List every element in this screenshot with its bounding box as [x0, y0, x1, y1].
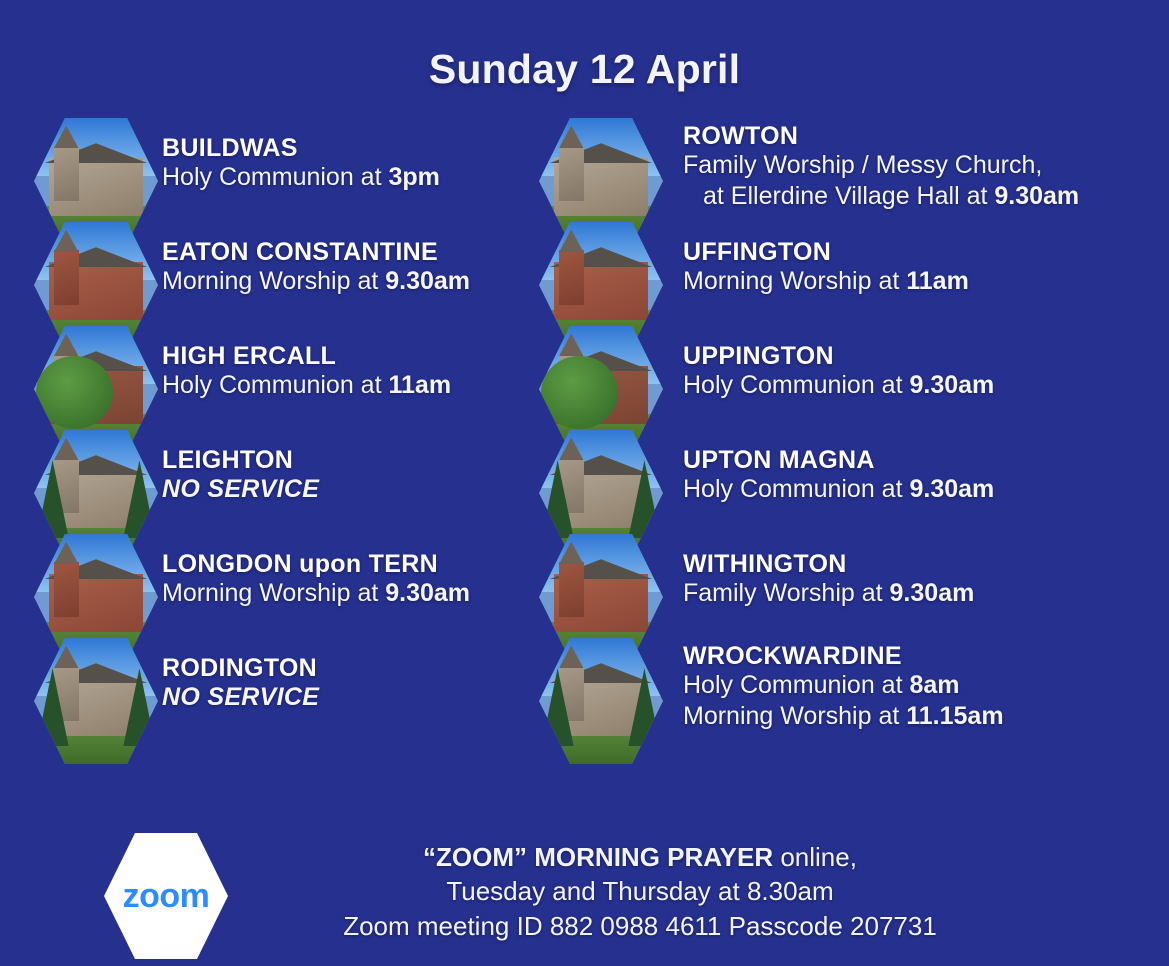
service-time: 9.30am — [909, 371, 994, 399]
parish-name: ROWTON — [683, 122, 1163, 150]
service-entry: EATON CONSTANTINEMorning Worship at 9.30… — [34, 222, 534, 326]
service-description: Holy Communion at — [162, 163, 388, 191]
photo-layer-tower — [54, 146, 79, 201]
service-description: Family Worship / Messy Church, — [683, 151, 1042, 179]
service-description: Holy Communion at — [162, 371, 388, 399]
service-time: 11.15am — [906, 702, 1003, 730]
parish-name: LEIGHTON — [162, 446, 562, 474]
service-entry: LONGDON upon TERNMorning Worship at 9.30… — [34, 534, 534, 638]
service-entry-text: EATON CONSTANTINEMorning Worship at 9.30… — [162, 238, 562, 297]
footer-line-2: Tuesday and Thursday at 8.30am — [280, 874, 1000, 908]
no-service-label: NO SERVICE — [162, 474, 562, 505]
service-entry-text: ROWTONFamily Worship / Messy Church,at E… — [683, 122, 1163, 211]
service-description: Morning Worship at — [683, 702, 906, 730]
photo-layer-tower — [559, 146, 584, 201]
service-line: Morning Worship at 9.30am — [162, 266, 562, 297]
parish-name: UPPINGTON — [683, 342, 1163, 370]
church-photo-hexagon — [34, 638, 158, 764]
zoom-logo-text: zoom — [123, 879, 210, 913]
service-column-left: BUILDWASHoly Communion at 3pmEATON CONST… — [34, 118, 534, 742]
parish-name: WITHINGTON — [683, 550, 1163, 578]
service-time: 9.30am — [890, 579, 975, 607]
service-time: 9.30am — [909, 475, 994, 503]
service-entry-text: LEIGHTONNO SERVICE — [162, 446, 562, 505]
service-description: Holy Communion at — [683, 475, 909, 503]
service-time: 11am — [906, 267, 969, 295]
service-entry-text: WITHINGTONFamily Worship at 9.30am — [683, 550, 1163, 609]
service-entry-text: HIGH ERCALLHoly Communion at 11am — [162, 342, 562, 401]
photo-layer-tower — [559, 562, 584, 617]
service-description: Holy Communion at — [683, 671, 909, 699]
service-description: Morning Worship at — [162, 579, 385, 607]
service-line: Morning Worship at 11.15am — [683, 701, 1163, 732]
service-line: at Ellerdine Village Hall at 9.30am — [683, 181, 1163, 212]
service-description: Family Worship at — [683, 579, 890, 607]
service-time: 8am — [909, 671, 959, 699]
photo-layer-tower — [54, 250, 79, 305]
service-entry: HIGH ERCALLHoly Communion at 11am — [34, 326, 534, 430]
parish-name: EATON CONSTANTINE — [162, 238, 562, 266]
service-description: at Ellerdine Village Hall at — [703, 182, 994, 210]
service-line: Holy Communion at 9.30am — [683, 370, 1163, 401]
photo-layer-tower — [559, 250, 584, 305]
service-description: Holy Communion at — [683, 371, 909, 399]
service-entry: UPTON MAGNAHoly Communion at 9.30am — [539, 430, 1159, 534]
service-line: Holy Communion at 3pm — [162, 162, 562, 193]
service-entry: WITHINGTONFamily Worship at 9.30am — [539, 534, 1159, 638]
service-line: Family Worship at 9.30am — [683, 578, 1163, 609]
parish-name: WROCKWARDINE — [683, 642, 1163, 670]
parish-name: LONGDON upon TERN — [162, 550, 562, 578]
service-time: 11am — [388, 371, 451, 399]
footer-line-1-rest: online, — [773, 842, 857, 872]
service-time: 3pm — [388, 163, 439, 191]
parish-name: RODINGTON — [162, 654, 562, 682]
service-description: Morning Worship at — [162, 267, 385, 295]
footer-notice: “ZOOM” MORNING PRAYER online, Tuesday an… — [280, 840, 1000, 943]
page-title: Sunday 12 April — [0, 46, 1169, 93]
photo-layer-tower — [54, 562, 79, 617]
parish-name: BUILDWAS — [162, 134, 562, 162]
footer-line-3: Zoom meeting ID 882 0988 4611 Passcode 2… — [280, 909, 1000, 943]
service-entry: ROWTONFamily Worship / Messy Church,at E… — [539, 118, 1159, 222]
church-photo-hexagon — [539, 638, 663, 764]
parish-name: HIGH ERCALL — [162, 342, 562, 370]
service-entry-text: UPTON MAGNAHoly Communion at 9.30am — [683, 446, 1163, 505]
service-time: 9.30am — [994, 182, 1079, 210]
service-entry-text: WROCKWARDINEHoly Communion at 8amMorning… — [683, 642, 1163, 731]
service-entry: WROCKWARDINEHoly Communion at 8amMorning… — [539, 638, 1159, 742]
service-entry: LEIGHTONNO SERVICE — [34, 430, 534, 534]
service-entry-text: UFFINGTONMorning Worship at 11am — [683, 238, 1163, 297]
service-entry: UPPINGTONHoly Communion at 9.30am — [539, 326, 1159, 430]
service-column-right: ROWTONFamily Worship / Messy Church,at E… — [539, 118, 1159, 742]
service-line: Morning Worship at 9.30am — [162, 578, 562, 609]
footer-line-1-bold: “ZOOM” MORNING PRAYER — [423, 842, 773, 872]
zoom-hexagon-logo: zoom — [104, 833, 228, 959]
service-entry: BUILDWASHoly Communion at 3pm — [34, 118, 534, 222]
parish-name: UFFINGTON — [683, 238, 1163, 266]
parish-name: UPTON MAGNA — [683, 446, 1163, 474]
service-time: 9.30am — [385, 579, 470, 607]
service-entry: UFFINGTONMorning Worship at 11am — [539, 222, 1159, 326]
service-description: Morning Worship at — [683, 267, 906, 295]
service-line: Holy Communion at 11am — [162, 370, 562, 401]
service-entry-text: UPPINGTONHoly Communion at 9.30am — [683, 342, 1163, 401]
service-line: Family Worship / Messy Church, — [683, 150, 1163, 181]
no-service-label: NO SERVICE — [162, 682, 562, 713]
service-entry-text: BUILDWASHoly Communion at 3pm — [162, 134, 562, 193]
service-entry-text: RODINGTONNO SERVICE — [162, 654, 562, 713]
service-line: Morning Worship at 11am — [683, 266, 1163, 297]
service-line: Holy Communion at 8am — [683, 670, 1163, 701]
service-time: 9.30am — [385, 267, 470, 295]
service-entry-text: LONGDON upon TERNMorning Worship at 9.30… — [162, 550, 562, 609]
service-entry: RODINGTONNO SERVICE — [34, 638, 534, 742]
footer-line-1: “ZOOM” MORNING PRAYER online, — [280, 840, 1000, 874]
service-line: Holy Communion at 9.30am — [683, 474, 1163, 505]
